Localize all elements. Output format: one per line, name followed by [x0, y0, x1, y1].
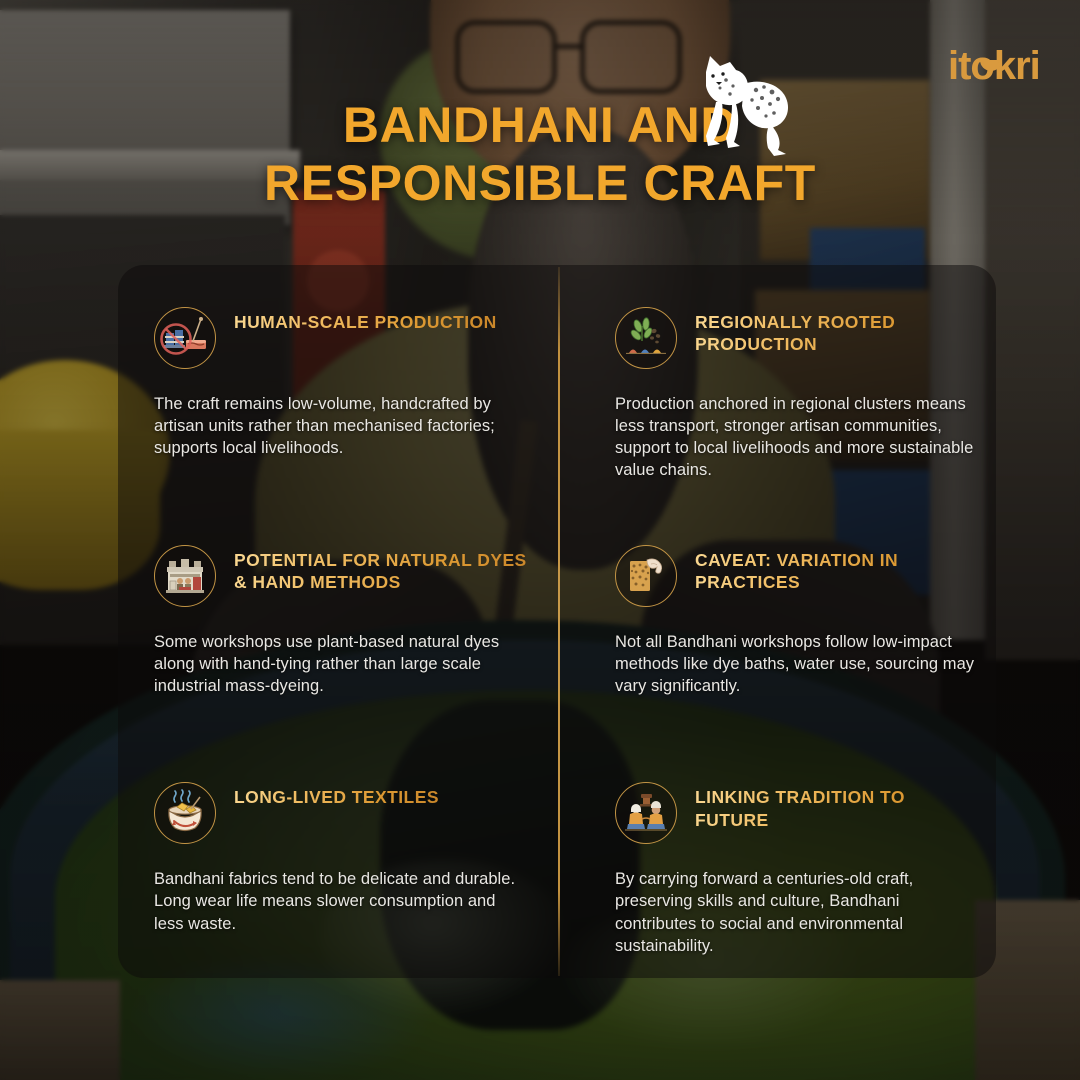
card-title: LONG-LIVED TEXTILES	[234, 780, 439, 808]
card-regionally-rooted-production: REGIONALLY ROOTED PRODUCTION Production …	[558, 265, 996, 503]
card-long-lived-textiles: LONG-LIVED TEXTILES Bandhani fabrics ten…	[118, 740, 558, 978]
page-title-line2: RESPONSIBLE CRAFT	[0, 154, 1080, 212]
card-linking-tradition-to-future: LINKING TRADITION TO FUTURE By carrying …	[558, 740, 996, 978]
brand-logo[interactable]: itokri	[948, 44, 1048, 88]
card-title: POTENTIAL FOR NATURAL DYES & HAND METHOD…	[234, 543, 528, 594]
card-body: Bandhani fabrics tend to be delicate and…	[154, 868, 528, 934]
card-header: REGIONALLY ROOTED PRODUCTION	[615, 305, 976, 369]
card-title: LINKING TRADITION TO FUTURE	[695, 780, 975, 831]
card-body: Not all Bandhani workshops follow low-im…	[615, 631, 976, 697]
card-body: By carrying forward a centuries-old craf…	[615, 868, 976, 956]
hand-holding-fabric-icon	[615, 545, 677, 607]
two-artisans-icon	[615, 782, 677, 844]
card-body: Some workshops use plant-based natural d…	[154, 631, 528, 697]
card-title: REGIONALLY ROOTED PRODUCTION	[695, 305, 975, 356]
card-header: LINKING TRADITION TO FUTURE	[615, 780, 976, 844]
card-caveat-variation-in-practices: CAVEAT: VARIATION IN PRACTICES Not all B…	[558, 503, 996, 741]
card-potential-for-natural-dyes: POTENTIAL FOR NATURAL DYES & HAND METHOD…	[118, 503, 558, 741]
steaming-dye-pot-icon	[154, 782, 216, 844]
no-factory-icon	[154, 307, 216, 369]
card-title: CAVEAT: VARIATION IN PRACTICES	[695, 543, 975, 594]
card-header: POTENTIAL FOR NATURAL DYES & HAND METHOD…	[154, 543, 528, 607]
card-body: The craft remains low-volume, handcrafte…	[154, 393, 528, 459]
card-header: CAVEAT: VARIATION IN PRACTICES	[615, 543, 976, 607]
page-title-line1: BANDHANI AND	[343, 97, 737, 153]
card-human-scale-production: HUMAN-SCALE PRODUCTION The craft remains…	[118, 265, 558, 503]
artisan-workshop-icon	[154, 545, 216, 607]
card-header: LONG-LIVED TEXTILES	[154, 780, 528, 844]
card-body: Production anchored in regional clusters…	[615, 393, 976, 481]
card-title: HUMAN-SCALE PRODUCTION	[234, 305, 497, 333]
card-header: HUMAN-SCALE PRODUCTION	[154, 305, 528, 369]
natural-dye-plants-icon	[615, 307, 677, 369]
features-grid: HUMAN-SCALE PRODUCTION The craft remains…	[118, 265, 996, 978]
cat-illustration-icon	[686, 50, 806, 160]
page-title: BANDHANI AND RESPONSIBLE CRAFT	[0, 96, 1080, 212]
